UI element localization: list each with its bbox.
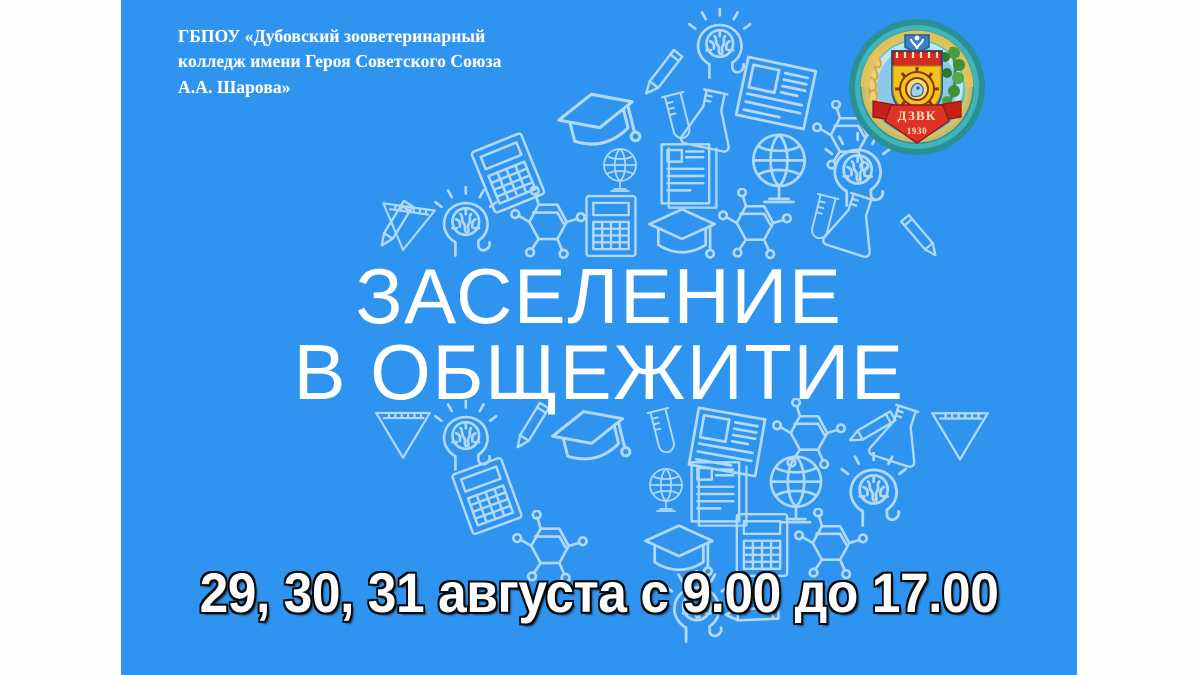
- test-tube-icon: [662, 92, 694, 141]
- emblem-year-text: 1930: [907, 126, 927, 136]
- calculator-icon: [471, 133, 545, 213]
- globe-icon: [604, 149, 636, 191]
- date-time-line: 29, 30, 31 августа с 9.00 до 17.00: [159, 562, 1039, 624]
- brain-head-idea-icon: [435, 187, 496, 256]
- globe-icon: [650, 469, 682, 511]
- document-icon: [662, 144, 717, 207]
- globe-icon: [753, 135, 804, 202]
- blue-background-panel: ГБПОУ «Дубовский зооветеринарный колледж…: [121, 0, 1077, 675]
- calculator-icon: [452, 457, 522, 534]
- pencil-icon: [896, 214, 942, 255]
- triangle-ruler-icon: [376, 413, 430, 458]
- flask-icon: [868, 401, 930, 468]
- pencil-icon: [850, 401, 898, 453]
- document-icon: [692, 462, 747, 525]
- pencil-icon: [513, 402, 552, 447]
- newspaper-icon: [736, 57, 816, 129]
- calculator-icon: [587, 196, 636, 256]
- college-name-line-1: ГБПОУ «Дубовский зооветеринарный: [178, 24, 578, 49]
- pencil-icon: [646, 50, 682, 93]
- test-tube-icon: [808, 194, 839, 241]
- brain-head-idea-icon: [689, 9, 750, 78]
- graduation-cap-icon: [549, 403, 632, 472]
- college-name-line-3: А.А. Шарова»: [178, 75, 578, 100]
- brain-head-idea-icon: [435, 401, 496, 470]
- flask-icon: [680, 87, 739, 153]
- newspaper-icon: [689, 408, 765, 476]
- emblem-banner-text: ДЗВК: [897, 108, 936, 123]
- molecule-icon: [773, 399, 844, 468]
- molecule-icon: [511, 187, 584, 258]
- dzvk-college-emblem: ДЗВК 1930: [847, 17, 987, 157]
- triangle-ruler-icon: [932, 413, 987, 459]
- test-tube-icon: [648, 408, 679, 455]
- graduation-cap-icon: [649, 209, 714, 257]
- poster-canvas: ГБПОУ «Дубовский зооветеринарный колледж…: [0, 0, 1200, 675]
- college-name-line-2: колледж имени Героя Советского Союза: [178, 49, 578, 74]
- college-name-heading: ГБПОУ «Дубовский зооветеринарный колледж…: [178, 24, 578, 100]
